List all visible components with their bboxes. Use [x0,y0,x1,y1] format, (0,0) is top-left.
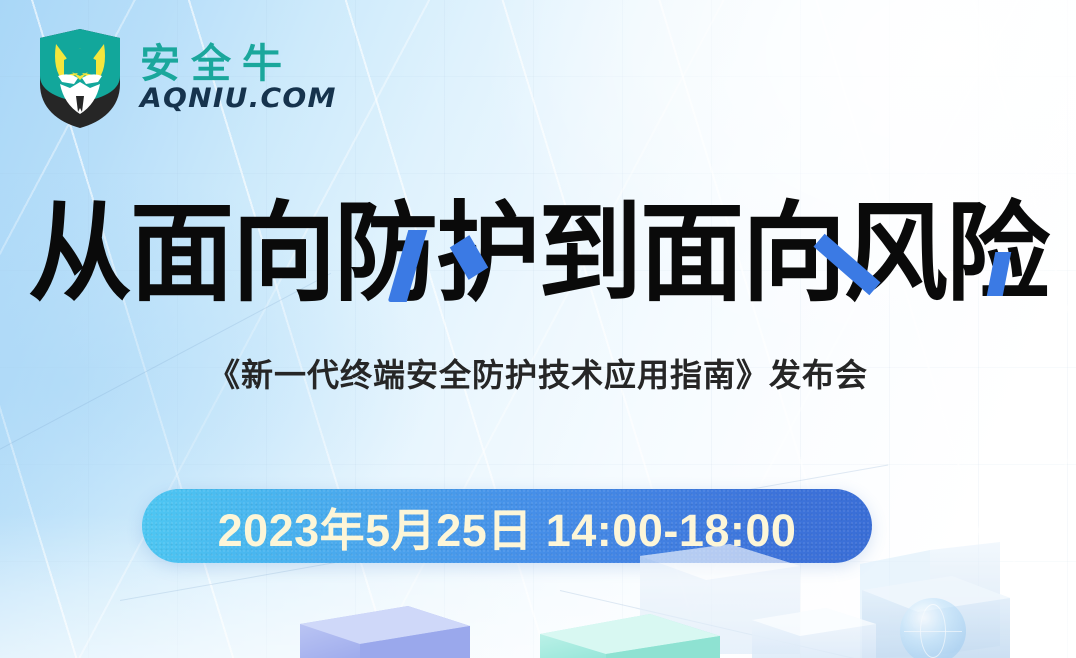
block-front-right [752,608,876,658]
event-datetime-banner: 2023年5月25日 14:00-18:00 [142,489,872,563]
headline-title: 从面向防护到面向风险 [28,198,1048,312]
brand-name-url: AQNIU.COM [140,85,337,112]
background-stroke-3 [560,590,1076,658]
shield-logo-icon [34,26,126,130]
subtitle-text: 《新一代终端安全防护技术应用指南》发布会 [0,350,1076,396]
block-periwinkle [300,606,470,658]
brand-logo-text: 安全牛 AQNIU.COM [140,44,329,112]
poster-canvas: 安全牛 AQNIU.COM 从面向防护到面向风险 《新一代终端安全防护技术应用指… [0,0,1076,658]
globe-sphere-icon [900,598,966,658]
brand-name-cn: 安全牛 [140,44,329,84]
headline-block: 从面向防护到面向风险 [0,200,1076,324]
brand-logo[interactable]: 安全牛 AQNIU.COM [34,26,329,130]
event-datetime-text: 2023年5月25日 14:00-18:00 [218,494,797,559]
